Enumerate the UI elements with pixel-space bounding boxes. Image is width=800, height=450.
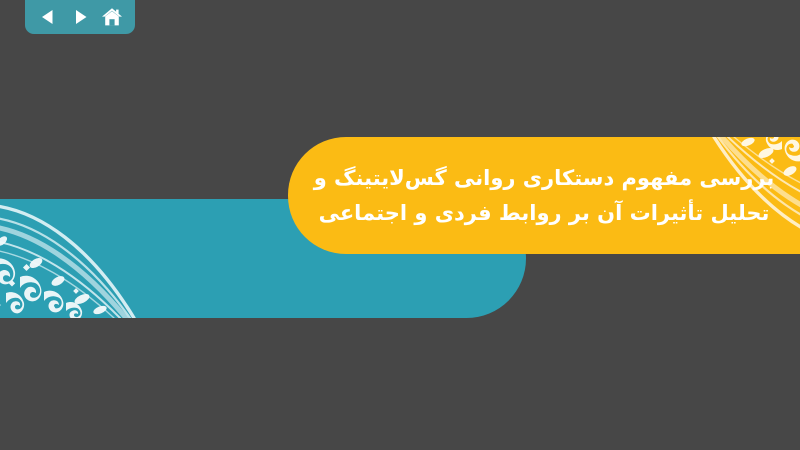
arabesque-corner-ornament [685, 137, 800, 254]
slide-navigation-bar [25, 0, 135, 34]
previous-slide-button[interactable] [36, 5, 60, 29]
next-slide-button[interactable] [68, 5, 92, 29]
home-icon [101, 7, 123, 28]
triangle-right-icon [70, 7, 90, 27]
arabesque-corner-ornament [0, 199, 158, 318]
triangle-left-icon [38, 7, 58, 27]
yellow-title-band [288, 137, 800, 254]
home-button[interactable] [100, 5, 124, 29]
presentation-slide: بررسی مفهوم دستکاری روانی گس‌لایتینگ و ت… [0, 0, 800, 450]
